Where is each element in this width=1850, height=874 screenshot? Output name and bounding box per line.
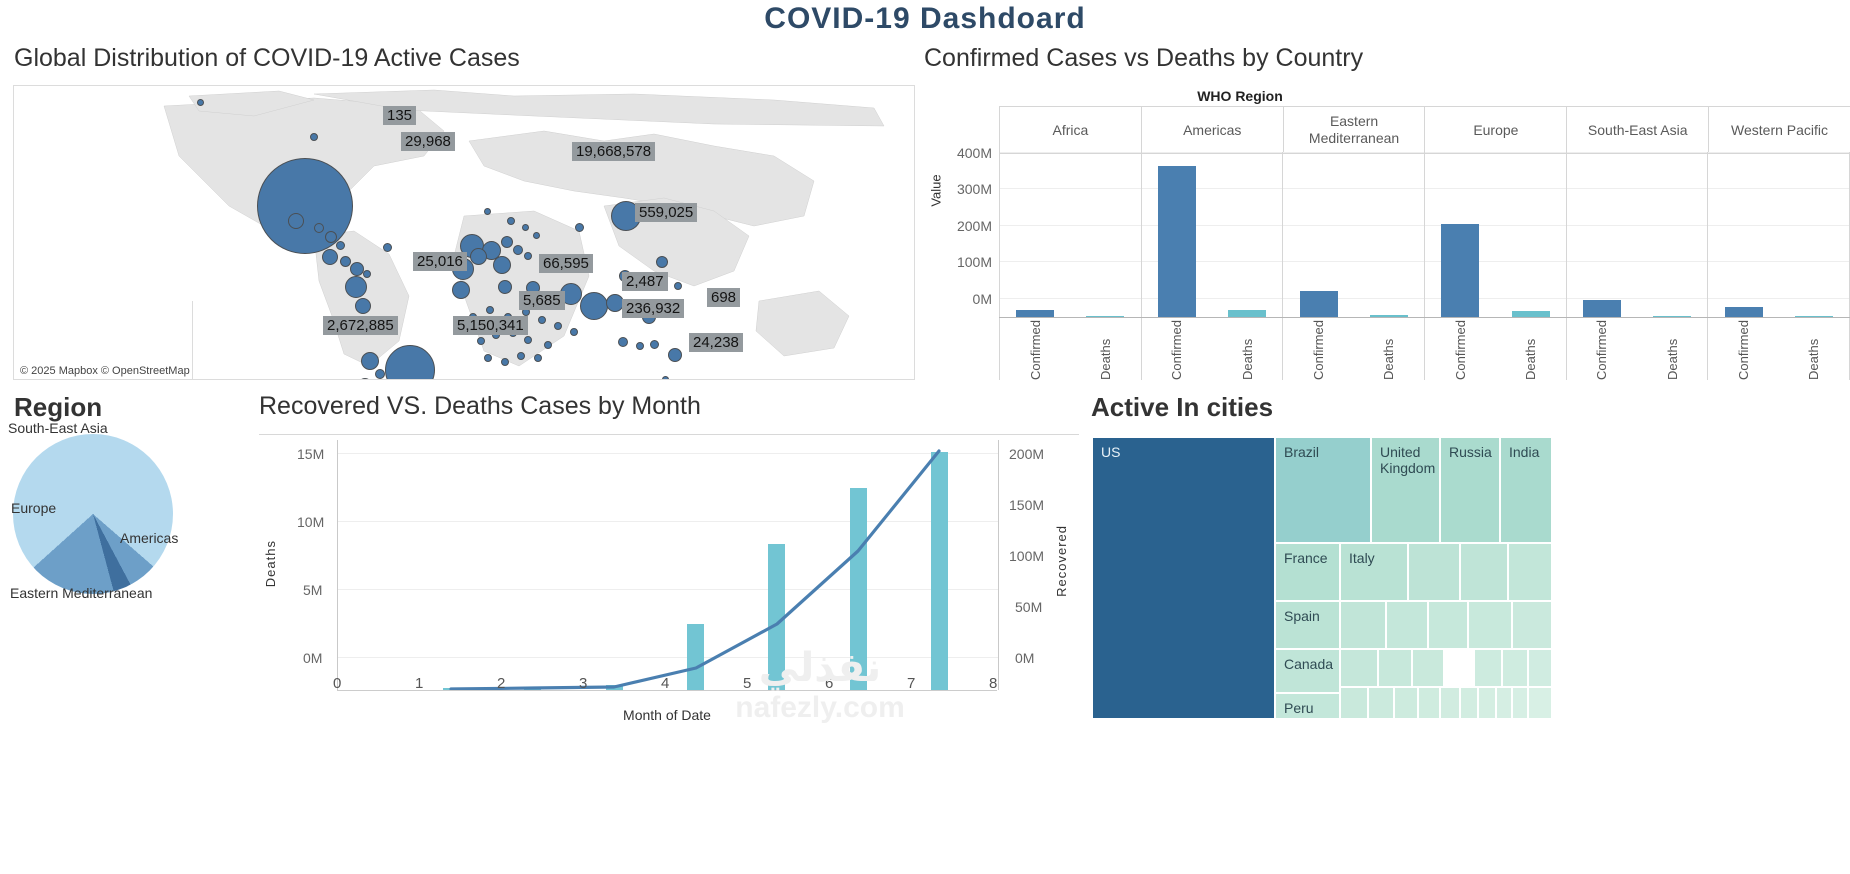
pie-label-south-east-asia: South-East Asia: [8, 420, 108, 436]
map-bubble[interactable]: [288, 213, 304, 229]
map-bubble[interactable]: [674, 282, 682, 290]
bar-panel-title: Confirmed Cases vs Deaths by Country: [924, 44, 1363, 73]
treemap-tile-india[interactable]: India: [1500, 437, 1552, 543]
combo-right-axis-label: Recovered: [1054, 525, 1069, 597]
map-value-label: 559,025: [635, 203, 697, 222]
combo-right-tick: 50M: [1015, 599, 1042, 615]
pie-label-americas: Americas: [120, 530, 178, 546]
treemap-tile[interactable]: [1528, 649, 1552, 687]
map-bubble[interactable]: [636, 342, 644, 350]
map-panel-title: Global Distribution of COVID-19 Active C…: [14, 44, 520, 73]
map-bubble[interactable]: [618, 337, 628, 347]
map-bubble[interactable]: [350, 262, 364, 276]
map-value-label: 2,487: [622, 272, 668, 291]
xtick-group: Confirmed Deaths: [1282, 318, 1424, 380]
treemap-tile[interactable]: [1418, 687, 1440, 719]
map-value-label: 66,595: [539, 254, 593, 273]
map-bubble[interactable]: [493, 256, 511, 274]
map-value-label: 25,016: [413, 252, 467, 271]
treemap-tile[interactable]: [1478, 687, 1496, 719]
combo-left-tick: 0M: [303, 650, 322, 666]
map-bubble[interactable]: [310, 133, 318, 141]
bar-deaths[interactable]: [1653, 316, 1691, 317]
region-header-cell: South-East Asia: [1566, 107, 1708, 153]
panel-divider: [259, 434, 1079, 435]
x-tick-confirmed: Confirmed: [1453, 318, 1468, 380]
map-bubble[interactable]: [534, 354, 542, 362]
map-bubble[interactable]: [580, 292, 608, 320]
map-landmass: [14, 86, 914, 379]
treemap-tile[interactable]: [1512, 601, 1552, 649]
map-bubble[interactable]: [197, 99, 204, 106]
xtick-group: Confirmed Deaths: [999, 318, 1141, 380]
treemap-tile[interactable]: [1496, 687, 1512, 719]
combo-left-tick: 5M: [303, 582, 322, 598]
x-tick-deaths: Deaths: [1098, 318, 1113, 380]
treemap-tile-spain[interactable]: Spain: [1275, 601, 1340, 649]
region-header-row: Africa Americas Eastern Mediterranean Eu…: [999, 106, 1850, 154]
map-bubble[interactable]: [538, 316, 546, 324]
map-bubble[interactable]: [522, 224, 529, 231]
map-bubble[interactable]: [533, 232, 540, 239]
bar-group-americas: [1141, 152, 1283, 317]
map-value-label: 24,238: [689, 333, 743, 352]
combo-x-tick: 1: [415, 675, 423, 692]
world-map[interactable]: 135 29,968 19,668,578 559,025 25,016 66,…: [13, 85, 915, 380]
map-bubble[interactable]: [498, 280, 512, 294]
bar-y-tick: 300M: [924, 181, 992, 197]
pie-label-eastern-mediterranean: Eastern Mediterranean: [10, 585, 152, 601]
map-bubble[interactable]: [494, 379, 508, 380]
x-tick-deaths: Deaths: [1381, 318, 1396, 380]
combo-x-tick: 5: [743, 675, 751, 692]
map-value-label: 5,685: [519, 291, 565, 310]
combo-x-tick: 2: [497, 675, 505, 692]
map-bubble[interactable]: [656, 256, 668, 268]
bar-deaths[interactable]: [1086, 316, 1124, 317]
map-bubble[interactable]: [668, 348, 682, 362]
bar-confirmed[interactable]: [1016, 310, 1054, 317]
map-bubble[interactable]: [517, 352, 525, 360]
treemap-tile[interactable]: [1468, 601, 1512, 649]
x-tick-confirmed: Confirmed: [1311, 318, 1326, 380]
map-bubble[interactable]: [340, 256, 351, 267]
treemap-tile-france[interactable]: France: [1275, 543, 1340, 601]
bar-confirmed[interactable]: [1725, 307, 1763, 317]
map-bubble[interactable]: [501, 358, 509, 366]
map-bubble[interactable]: [383, 243, 392, 252]
treemap-tile[interactable]: [1440, 687, 1460, 719]
map-bubble[interactable]: [477, 337, 485, 345]
bar-group-europe: [1424, 152, 1566, 317]
map-value-label: 19,668,578: [572, 142, 655, 161]
bar-deaths[interactable]: [1795, 316, 1833, 317]
who-region-header-label: WHO Region: [924, 88, 1556, 104]
map-bubble[interactable]: [375, 369, 385, 379]
treemap-tile[interactable]: [1368, 687, 1394, 719]
combo-right-tick: 150M: [1009, 497, 1044, 513]
bar-group-south-east-asia: [1566, 152, 1708, 317]
bar-y-tick: 200M: [924, 218, 992, 234]
region-header-cell: Africa: [999, 107, 1141, 153]
map-value-label: 236,932: [622, 299, 684, 318]
region-header-cell: Eastern Mediterranean: [1283, 107, 1425, 153]
treemap-tile-united-kingdom[interactable]: UnitedKingdom: [1371, 437, 1440, 543]
map-bubble[interactable]: [361, 352, 379, 370]
bar-x-axis-ticks: Confirmed Deaths Confirmed Deaths Confir…: [999, 318, 1850, 380]
treemap-tile[interactable]: [1408, 543, 1460, 601]
map-bubble[interactable]: [554, 322, 562, 330]
map-bubble[interactable]: [336, 241, 345, 250]
xtick-group: Confirmed Deaths: [1141, 318, 1283, 380]
map-bubble[interactable]: [544, 341, 552, 349]
treemap-tile[interactable]: [1386, 601, 1428, 649]
x-tick-deaths: Deaths: [1806, 318, 1821, 380]
combo-left-axis-label: Deaths: [263, 540, 278, 587]
combo-left-tick: 10M: [297, 514, 324, 530]
region-header-cell: Europe: [1424, 107, 1566, 153]
confirmed-vs-deaths-chart[interactable]: WHO Region Africa Americas Eastern Medit…: [924, 88, 1850, 380]
map-bubble[interactable]: [470, 248, 487, 265]
treemap-tile[interactable]: [1412, 649, 1444, 687]
treemap-tile[interactable]: [1340, 649, 1378, 687]
combo-x-tick: 8: [989, 675, 997, 692]
map-value-label: 29,968: [401, 132, 455, 151]
xtick-group: Confirmed Deaths: [1707, 318, 1850, 380]
map-divider: [192, 301, 193, 379]
map-value-label: 5,150,341: [453, 316, 528, 335]
combo-right-tick: 0M: [1015, 650, 1034, 666]
tile-label-line1: United: [1380, 444, 1439, 460]
combo-x-axis-label: Month of Date: [337, 707, 997, 723]
map-bubble[interactable]: [501, 236, 513, 248]
recovered-vs-deaths-chart[interactable]: Deaths Recovered 15M 10M 5M 0M 200M 150M…: [259, 430, 1079, 730]
page-title: COVID-19 Dashdoard: [0, 2, 1850, 36]
treemap-panel-title: Active In cities: [1091, 392, 1273, 423]
map-bubble[interactable]: [524, 252, 532, 260]
map-bubble[interactable]: [452, 281, 470, 299]
map-value-label: 2,672,885: [323, 316, 398, 335]
recovered-line[interactable]: [338, 440, 998, 690]
pie-panel-title: Region: [14, 392, 102, 423]
combo-panel-title: Recovered VS. Deaths Cases by Month: [259, 392, 701, 421]
treemap-tile[interactable]: [1378, 649, 1412, 687]
combo-right-tick: 200M: [1009, 446, 1044, 462]
map-value-label: 135: [383, 106, 416, 125]
map-bubble[interactable]: [486, 306, 494, 314]
bar-confirmed[interactable]: [1300, 291, 1338, 317]
map-bubble[interactable]: [570, 328, 578, 336]
treemap-tile[interactable]: [1394, 687, 1418, 719]
bar-deaths[interactable]: [1512, 311, 1550, 317]
bar-y-tick: 0M: [924, 291, 992, 307]
treemap-tile[interactable]: [1512, 687, 1528, 719]
treemap-tile-russia[interactable]: Russia: [1440, 437, 1500, 543]
treemap-tile[interactable]: [1340, 601, 1386, 649]
treemap-tile-canada[interactable]: Canada: [1275, 649, 1340, 693]
combo-plot-area: [337, 440, 999, 690]
treemap-tile[interactable]: [1428, 601, 1468, 649]
treemap-tile[interactable]: [1460, 543, 1508, 601]
map-bubble[interactable]: [314, 223, 324, 233]
x-tick-confirmed: Confirmed: [1169, 318, 1184, 380]
combo-x-tick: 6: [825, 675, 833, 692]
map-bubble[interactable]: [355, 298, 371, 314]
treemap-tile-italy[interactable]: Italy: [1340, 543, 1408, 601]
combo-x-tick: 4: [661, 675, 669, 692]
map-bubble[interactable]: [257, 158, 353, 254]
map-attribution: © 2025 Mapbox © OpenStreetMap: [18, 365, 192, 377]
map-bubble[interactable]: [345, 276, 367, 298]
treemap-tile[interactable]: [1528, 687, 1552, 719]
region-header-cell: Americas: [1141, 107, 1283, 153]
region-pie-chart[interactable]: South-East Asia Europe Americas Eastern …: [0, 425, 255, 625]
map-bubble[interactable]: [325, 231, 337, 243]
tile-label-line2: Kingdom: [1380, 460, 1439, 476]
combo-right-tick: 100M: [1009, 548, 1044, 564]
region-header-cell: Western Pacific: [1708, 107, 1850, 153]
x-tick-confirmed: Confirmed: [1028, 318, 1043, 380]
map-bubble[interactable]: [363, 270, 371, 278]
map-bubble[interactable]: [575, 223, 584, 232]
map-bubble[interactable]: [513, 245, 523, 255]
bar-confirmed[interactable]: [1158, 166, 1196, 317]
bar-plot-area: [999, 152, 1850, 318]
treemap-tile-brazil[interactable]: Brazil: [1275, 437, 1371, 543]
map-bubble[interactable]: [484, 208, 491, 215]
xtick-group: Confirmed Deaths: [1566, 318, 1708, 380]
treemap-tile[interactable]: [1474, 649, 1502, 687]
map-bubble[interactable]: [507, 217, 515, 225]
treemap-tile-us[interactable]: US: [1092, 437, 1275, 719]
treemap-tile[interactable]: [1502, 649, 1528, 687]
bar-group-africa: [999, 152, 1141, 317]
treemap-tile[interactable]: [1444, 649, 1474, 687]
x-tick-deaths: Deaths: [1523, 318, 1538, 380]
combo-left-tick: 15M: [297, 446, 324, 462]
map-bubble[interactable]: [662, 376, 669, 380]
bar-group-eastern-mediterranean: [1282, 152, 1424, 317]
map-bubble[interactable]: [322, 249, 338, 265]
x-tick-deaths: Deaths: [1665, 318, 1680, 380]
bar-confirmed[interactable]: [1583, 300, 1621, 317]
treemap-tile[interactable]: [1460, 687, 1478, 719]
active-in-cities-treemap[interactable]: US Brazil UnitedKingdom Russia India Fra…: [1092, 437, 1850, 719]
combo-x-tick: 7: [907, 675, 915, 692]
combo-x-tick: 3: [579, 675, 587, 692]
pie-label-europe: Europe: [11, 500, 56, 516]
bar-group-western-pacific: [1707, 152, 1850, 317]
bar-confirmed[interactable]: [1441, 224, 1479, 317]
treemap-tile[interactable]: [1340, 687, 1368, 719]
xtick-group: Confirmed Deaths: [1424, 318, 1566, 380]
map-bubble[interactable]: [484, 354, 492, 362]
bar-deaths[interactable]: [1370, 315, 1408, 317]
treemap-tile[interactable]: [1508, 543, 1552, 601]
treemap-tile-peru[interactable]: Peru: [1275, 693, 1340, 719]
map-bubble[interactable]: [524, 336, 532, 344]
map-value-label: 698: [707, 288, 740, 307]
x-tick-confirmed: Confirmed: [1736, 318, 1751, 380]
combo-x-tick: 0: [333, 675, 341, 692]
x-tick-confirmed: Confirmed: [1594, 318, 1609, 380]
x-tick-deaths: Deaths: [1240, 318, 1255, 380]
bar-y-tick: 100M: [924, 254, 992, 270]
bar-deaths[interactable]: [1228, 310, 1266, 317]
map-bubble[interactable]: [650, 340, 659, 349]
bar-y-tick: 400M: [924, 145, 992, 161]
